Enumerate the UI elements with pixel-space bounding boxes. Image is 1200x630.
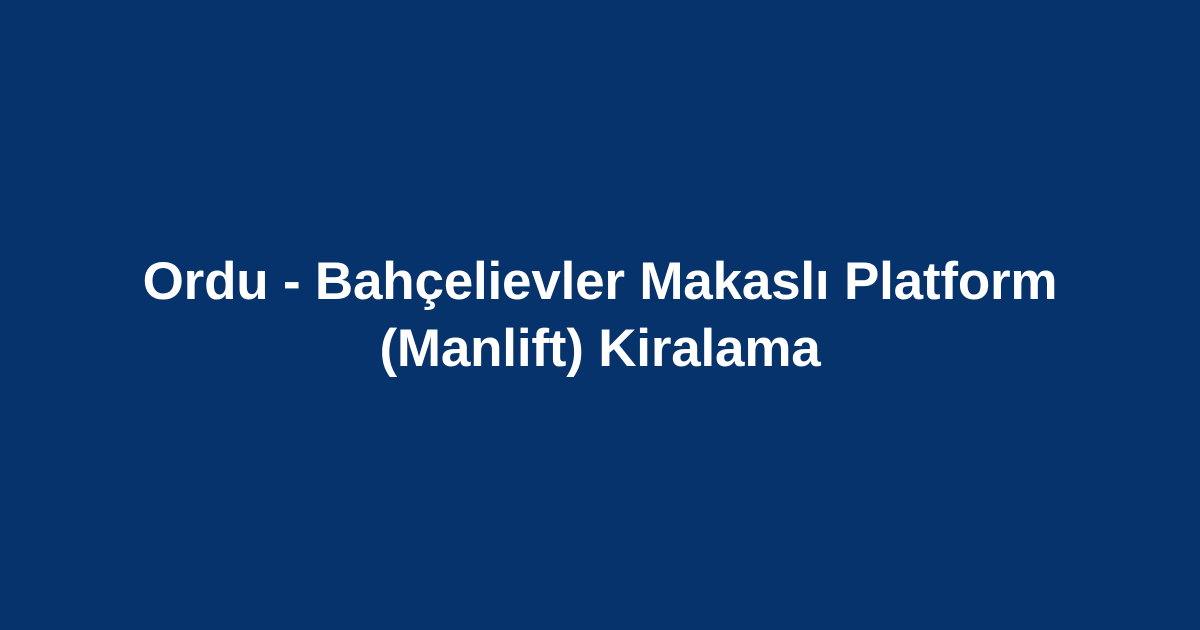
banner-title: Ordu - Bahçelievler Makaslı Platform (Ma… xyxy=(120,248,1080,383)
banner-card: Ordu - Bahçelievler Makaslı Platform (Ma… xyxy=(0,0,1200,630)
banner-content: Ordu - Bahçelievler Makaslı Platform (Ma… xyxy=(120,248,1080,383)
